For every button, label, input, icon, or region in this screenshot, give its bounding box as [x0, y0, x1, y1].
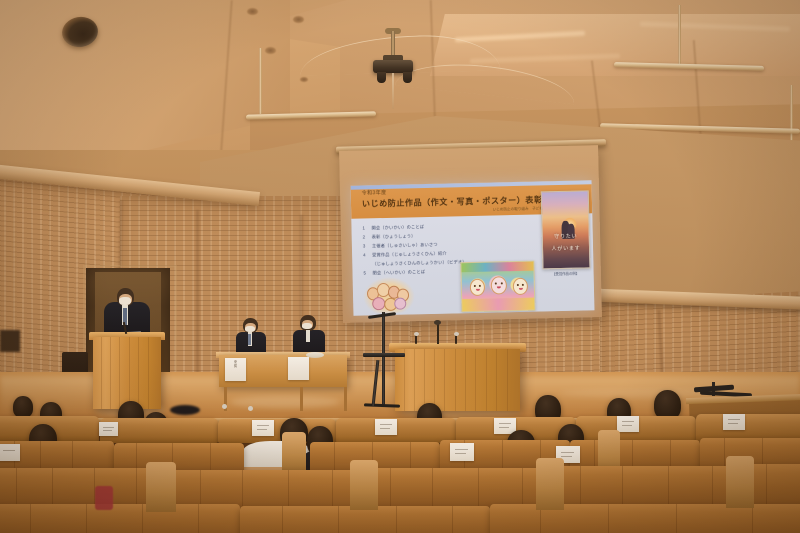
seat-divider [282, 432, 306, 472]
program-sheet-on-seat [450, 443, 474, 461]
agenda-number: 4 [363, 252, 365, 257]
audience-head [13, 396, 33, 418]
seat-row [550, 466, 740, 506]
seat-row [0, 468, 170, 508]
program-sheet-on-seat [99, 422, 118, 436]
seat-row-front [0, 504, 240, 533]
poster-sunset-silhouette: 守りたい 人がいます [541, 190, 591, 269]
laptop-stand-pole [382, 312, 385, 407]
floor-bag [170, 405, 200, 415]
seat-row [360, 468, 550, 508]
red-item-on-seat [95, 486, 113, 510]
light-bar-rod [790, 85, 793, 145]
poster-top-strip [461, 262, 533, 273]
agenda-number: 1 [362, 225, 364, 230]
program-sheet-on-seat [723, 414, 745, 430]
name-placard: 来賓 [225, 358, 246, 381]
poster-line-2: 人がいます [547, 245, 585, 253]
official-left-tie [248, 334, 251, 345]
slide-year-label: 令和3年度 [362, 189, 387, 197]
seat-divider [350, 460, 378, 510]
table-leg [344, 387, 347, 411]
chair-caster [248, 406, 253, 411]
program-sheet-on-seat [375, 419, 397, 435]
projector-foot [403, 72, 412, 83]
face-mask-icon [119, 297, 131, 305]
agenda-number: 3 [363, 243, 365, 248]
desk-microphone [415, 335, 417, 344]
seat-divider [726, 456, 754, 508]
desk-mic-head [434, 320, 441, 325]
face-mask-icon [302, 323, 312, 329]
desk-microphone [455, 335, 457, 344]
seat-row-front [240, 506, 490, 533]
poster-bottom-strip [462, 298, 534, 312]
program-sheet-on-seat [617, 416, 639, 432]
ceiling-downlight [265, 47, 276, 54]
auditorium-photo: 令和3年度 いじめ防止作品（作文・写真・ポスター）表彰式 いじめ防止の取り組み … [0, 0, 800, 533]
program-sheet-on-seat [252, 420, 274, 436]
agenda-item: 閉会（へいかい）のことば [372, 269, 425, 276]
placard-text [288, 360, 309, 364]
agenda-number: 2 [363, 234, 365, 239]
seat-divider [536, 458, 564, 510]
poster-face [491, 276, 507, 294]
floor-reflection [230, 396, 340, 408]
agenda-item: 表彰（ひょうしょう） [372, 233, 416, 240]
projected-slide: 令和3年度 いじめ防止作品（作文・写真・ポスター）表彰式 いじめ防止の取り組み … [351, 180, 595, 315]
poster-caption: 【受賞作品の例】 [543, 270, 589, 276]
poster-face [513, 278, 528, 295]
projector-foot [377, 72, 386, 83]
ceiling-downlight [247, 8, 258, 15]
presenter-lectern-desk [395, 349, 520, 411]
projector-hanging-cord [392, 73, 394, 109]
placard-text: 来賓 [225, 361, 246, 368]
laptop-stand-shelf [363, 353, 405, 357]
program-sheet-on-seat [0, 444, 20, 461]
illustration-group-of-children [363, 276, 416, 313]
table-leg [300, 387, 303, 411]
agenda-item: 開会（かいかい）のことば [371, 224, 424, 231]
desk-mic-stem [437, 324, 439, 344]
official-right-shirt [306, 330, 310, 342]
seat-divider [146, 462, 176, 512]
ceiling-downlight [300, 77, 308, 82]
chair-caster [222, 404, 227, 409]
poster-line-1: 守りたい [547, 232, 585, 240]
agenda-number: 5 [363, 270, 365, 275]
name-placard [288, 357, 309, 380]
light-bar-rod [678, 5, 681, 67]
wall-dark-fixture [0, 330, 20, 352]
poster-face [470, 279, 485, 296]
ceiling-downlight [293, 16, 304, 23]
tray-on-table [306, 352, 324, 358]
speaker-podium [93, 337, 161, 409]
light-bar-rod [259, 48, 262, 114]
poster-children-faces [460, 261, 535, 313]
